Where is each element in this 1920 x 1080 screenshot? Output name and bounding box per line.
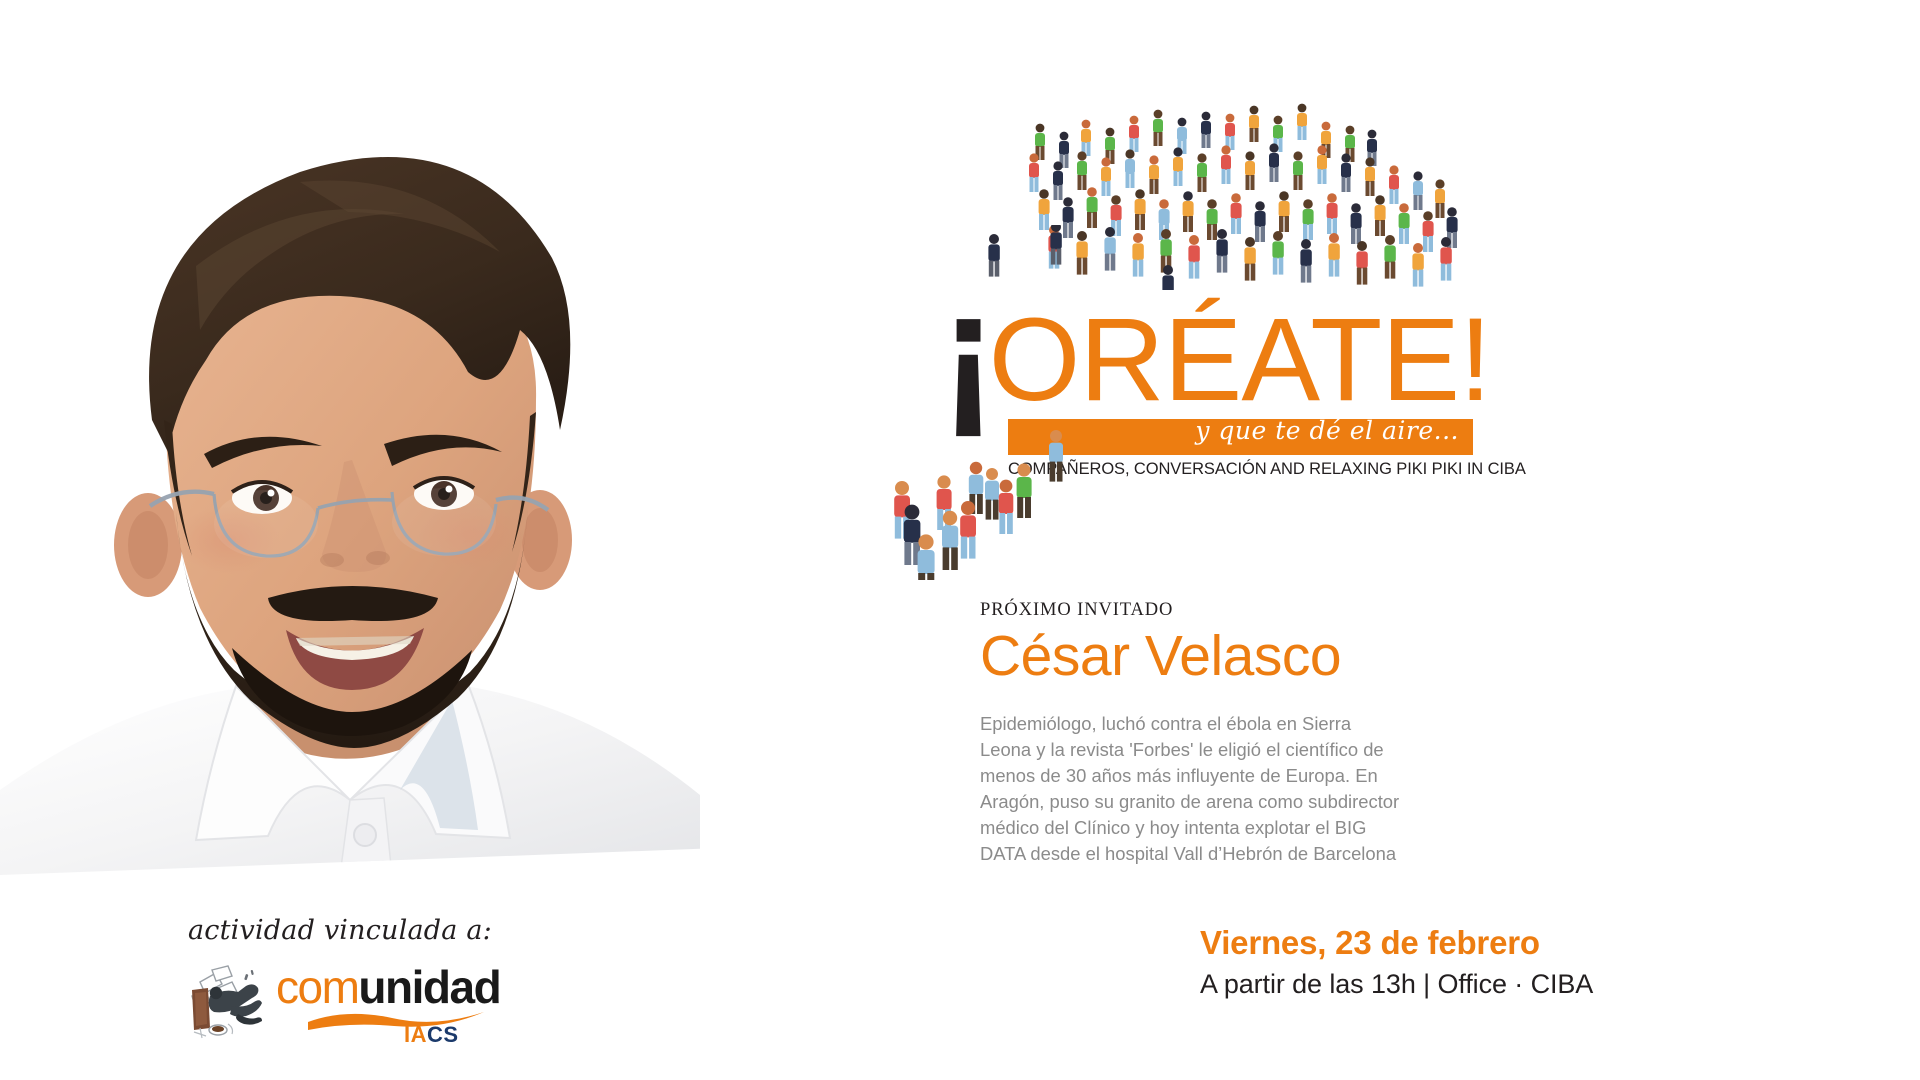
- footer-right: Viernes, 23 de febrero A partir de las 1…: [1200, 925, 1593, 1000]
- guest-portrait-photo: [0, 0, 700, 875]
- guest-kicker: PRÓXIMO INVITADO: [980, 600, 1450, 621]
- event-poster: ¡ ORÉATE! y que te dé el aire... COMPAÑE…: [0, 0, 1920, 1080]
- event-date: Viernes, 23 de febrero: [1200, 925, 1593, 961]
- logo-wordmark: ORÉATE!: [989, 309, 1491, 413]
- logo-inverted-exclamation: ¡: [940, 283, 993, 419]
- partner-logo-wordmark: comunidad: [276, 964, 500, 1010]
- partner-logo-ia: IA: [404, 1022, 427, 1047]
- footer-left: actividad vinculada a:: [188, 915, 492, 1040]
- event-time-place: A partir de las 13h | Office · CIBA: [1200, 969, 1593, 1000]
- partner-logo-acronym: IACS: [404, 1024, 459, 1046]
- portrait-illustration: [0, 0, 700, 875]
- linked-activity-label: actividad vinculada a:: [188, 915, 492, 946]
- partner-logo-cs: CS: [427, 1022, 459, 1047]
- partner-logo-swoosh: [306, 1006, 486, 1032]
- partner-logo-comunidad-iacs[interactable]: comunidad IACS: [188, 968, 473, 1040]
- crowd-illustration-bottom: [880, 430, 1100, 580]
- guest-name: César Velasco: [980, 627, 1450, 687]
- desk-person-icon: [188, 962, 283, 1040]
- guest-biography: Epidemiólogo, luchó contra el ébola en S…: [980, 711, 1405, 868]
- logo-tagline: y que te dé el aire...: [1195, 416, 1459, 445]
- guest-block: PRÓXIMO INVITADO César Velasco Epidemiól…: [980, 600, 1450, 868]
